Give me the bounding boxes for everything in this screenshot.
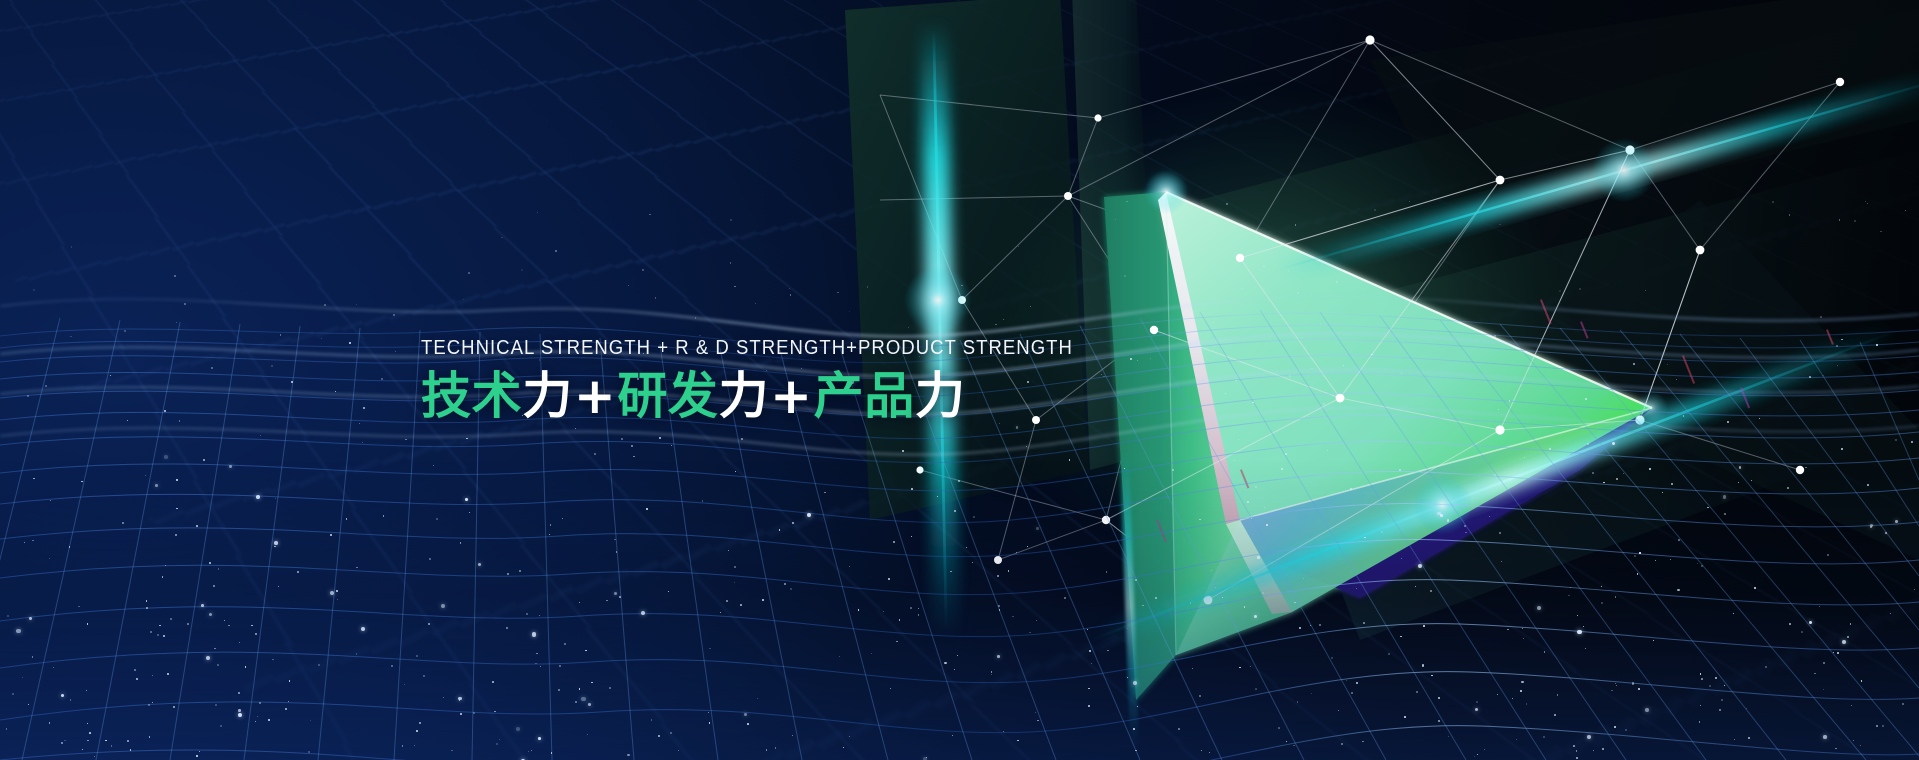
hero-banner: TECHNICAL STRENGTH + R & D STRENGTH+PROD… — [0, 0, 1919, 760]
title-segment-0: 技术 — [421, 367, 522, 425]
title-segment-2: + — [573, 367, 618, 425]
title-segment-5: + — [769, 367, 814, 425]
page-title: 技术力+研发力+产品力 — [421, 368, 1021, 425]
headline-block: TECHNICAL STRENGTH + R & D STRENGTH+PROD… — [421, 336, 1021, 425]
title-segment-3: 研发 — [617, 367, 718, 425]
title-segment-6: 产品 — [814, 367, 915, 425]
title-segment-7: 力 — [915, 367, 966, 425]
eyebrow-text: TECHNICAL STRENGTH + R & D STRENGTH+PROD… — [421, 336, 964, 360]
title-segment-4: 力 — [719, 367, 770, 425]
title-segment-1: 力 — [522, 367, 573, 425]
